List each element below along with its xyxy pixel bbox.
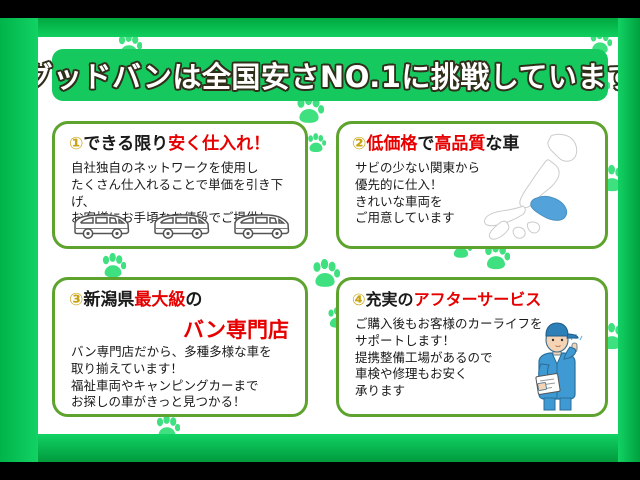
card-3-title-plain-2: の [185,290,202,310]
van-icon [71,210,131,242]
card-2-body: サビの少ない関東から 優先的に仕入！ きれいな車両を ご用意しています [355,160,480,227]
card-2-title-mid: で [417,134,434,154]
van-icon [231,210,291,242]
card-3-title-plain-1: 新潟県 [83,290,134,310]
feature-card-4: ④充実のアフターサービス ご購入後もお客様のカーライフを サポートします！ 提携… [336,277,608,417]
headline-text: グッドバンは全国安さNO.1に挑戦しています [38,54,618,96]
left-green-rail [0,18,38,462]
headline-banner: グッドバンは全国安さNO.1に挑戦しています [52,49,608,101]
content-area: グッドバンは全国安さNO.1に挑戦しています ①できる限り安く仕入れ！ 自社独自… [38,37,618,434]
three-vans-graphic [71,210,291,242]
card-1-number: ① [69,134,83,154]
van-icon [151,210,211,242]
feature-card-3: ③新潟県最大級の バン専門店 バン専門店だから、多種多様な車を 取り揃えています… [52,277,308,417]
card-3-title: ③新潟県最大級の [69,292,202,309]
bottom-green-band [0,432,640,462]
card-2-number: ② [352,134,366,154]
paw-print-icon [306,133,326,155]
mechanic-icon [519,320,595,412]
feature-card-1: ①できる限り安く仕入れ！ 自社独自のネットワークを使用し たくさん仕入れることで… [52,121,308,249]
card-3-title-highlight: 最大級 [134,290,185,310]
card-2-title-highlight-2: 高品質 [434,134,485,154]
card-4-title-highlight: アフターサービス [414,290,542,309]
card-1-title: ①できる限り安く仕入れ！ [69,136,270,153]
card-4-title: ④充実のアフターサービス [352,292,541,308]
top-green-band [0,18,640,37]
card-3-body: バン専門店だから、多種多様な車を 取り揃えています！ 福祉車両やキャンピングカー… [71,344,272,411]
advertisement-banner-page: グッドバンは全国安さNO.1に挑戦しています ①できる限り安く仕入れ！ 自社独自… [0,0,640,480]
card-3-title-line2: バン専門店 [183,314,289,344]
paw-print-icon [310,259,340,291]
framed-stage: グッドバンは全国安さNO.1に挑戦しています ①できる限り安く仕入れ！ 自社独自… [0,18,640,462]
card-2-title-highlight: 低価格 [366,134,417,154]
card-4-body: ご購入後もお客様のカーライフを サポートします！ 提携整備工場があるので 車検や… [355,316,543,400]
card-4-number: ④ [352,290,366,309]
card-4-title-plain: 充実の [366,290,414,309]
feature-card-2: ②低価格で高品質な車 サビの少ない関東から 優先的に仕入！ きれいな車両を ご用… [336,121,608,249]
card-3-number: ③ [69,290,83,310]
right-green-rail [618,18,640,462]
japan-map-icon [479,130,601,248]
card-1-title-highlight: 安く仕入れ！ [168,134,270,154]
card-1-title-plain: できる限り [83,134,168,154]
paw-print-icon [154,415,180,434]
